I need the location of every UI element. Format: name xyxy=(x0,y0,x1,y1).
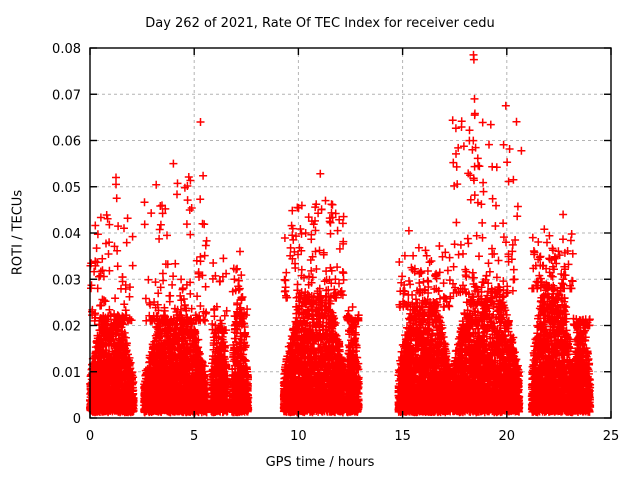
svg-text:0: 0 xyxy=(73,412,81,427)
svg-text:0.03: 0.03 xyxy=(52,273,81,288)
svg-text:0.02: 0.02 xyxy=(52,320,81,335)
svg-text:0.06: 0.06 xyxy=(52,135,81,150)
y-axis-label: ROTI / TECUs xyxy=(11,153,26,313)
roti-scatter-figure: Day 262 of 2021, Rate Of TEC Index for r… xyxy=(0,0,640,480)
svg-text:0.01: 0.01 xyxy=(52,366,81,381)
svg-text:10: 10 xyxy=(290,429,307,444)
svg-text:0: 0 xyxy=(86,429,94,444)
svg-text:0.07: 0.07 xyxy=(52,88,81,103)
x-axis-label: GPS time / hours xyxy=(0,455,640,470)
svg-text:0.04: 0.04 xyxy=(52,227,81,242)
svg-text:25: 25 xyxy=(603,429,620,444)
svg-text:0.08: 0.08 xyxy=(52,42,81,57)
page-title: Day 262 of 2021, Rate Of TEC Index for r… xyxy=(0,16,640,31)
scatter-points xyxy=(86,51,594,417)
svg-text:5: 5 xyxy=(190,429,198,444)
svg-text:0.05: 0.05 xyxy=(52,181,81,196)
chart-canvas: 00.010.020.030.040.050.060.070.080510152… xyxy=(0,0,640,480)
svg-text:20: 20 xyxy=(499,429,516,444)
svg-text:15: 15 xyxy=(394,429,411,444)
